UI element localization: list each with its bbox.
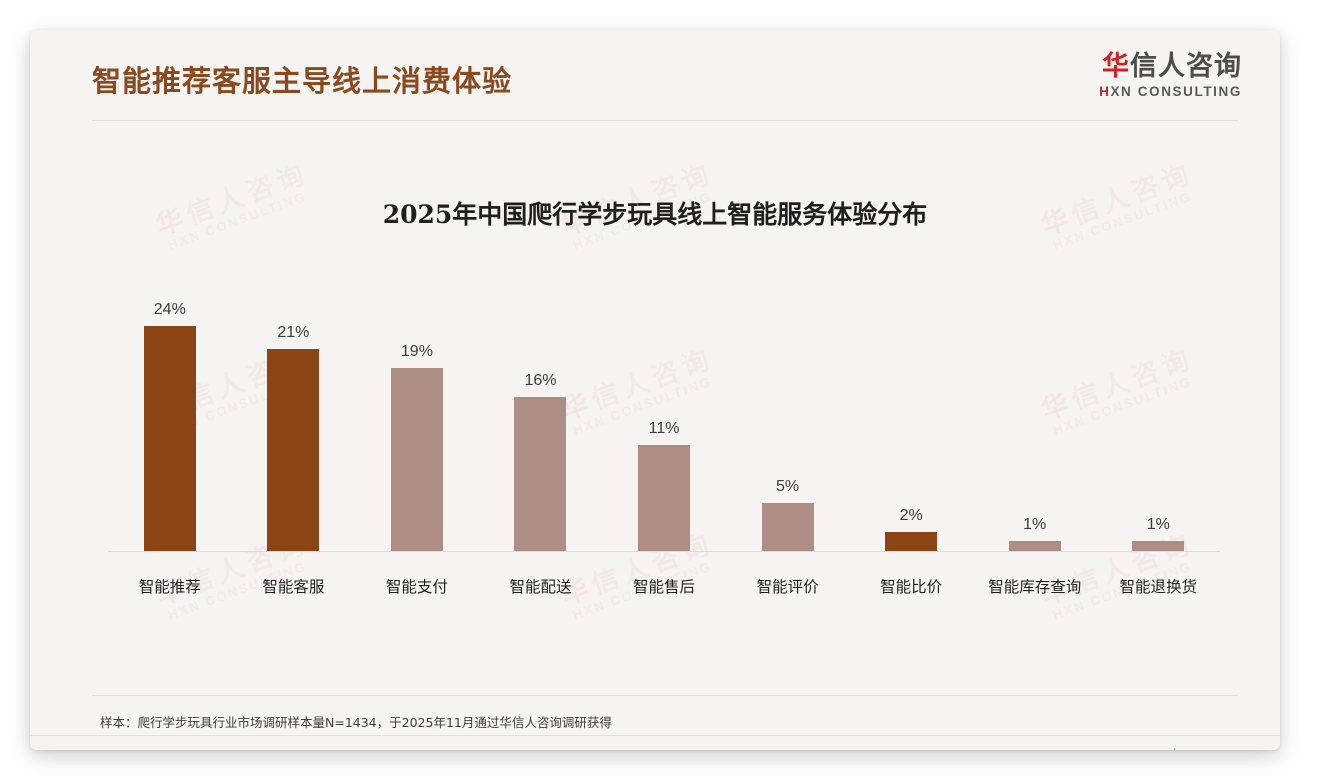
bar[interactable] <box>1009 541 1061 551</box>
bar-group: 2%智能比价 <box>849 301 973 551</box>
bar[interactable] <box>762 503 814 551</box>
bar-group: 19%智能支付 <box>355 301 479 551</box>
bar-category-label: 智能库存查询 <box>988 575 1081 597</box>
bar-value-label: 16% <box>524 372 556 390</box>
bar-category-label: 智能配送 <box>509 575 571 597</box>
bar-value-label: 2% <box>900 507 923 525</box>
logo-english: HXN CONSULTING <box>1099 84 1242 99</box>
bar-series: 24%智能推荐21%智能客服19%智能支付16%智能配送11%智能售后5%智能评… <box>108 301 1220 551</box>
chart-title: 2025年中国爬行学步玩具线上智能服务体验分布 <box>30 195 1280 231</box>
bar-category-label: 智能比价 <box>880 575 942 597</box>
bar-category-label: 智能评价 <box>757 575 819 597</box>
bar-value-label: 19% <box>401 343 433 361</box>
logo-chinese: 华信人咨询 <box>1099 52 1242 82</box>
bar[interactable] <box>638 445 690 551</box>
logo-chinese-rest: 信人咨询 <box>1130 51 1242 82</box>
logo-english-rest: XN CONSULTING <box>1110 84 1242 99</box>
bar-group: 1%智能库存查询 <box>973 301 1097 551</box>
bar-chart: 24%智能推荐21%智能客服19%智能支付16%智能配送11%智能售后5%智能评… <box>78 270 1238 630</box>
header-divider <box>92 120 1238 121</box>
bar-group: 16%智能配送 <box>479 301 603 551</box>
bar-group: 21%智能客服 <box>232 301 356 551</box>
bar-value-label: 1% <box>1023 516 1046 534</box>
sample-note: 样本：爬行学步玩具行业市场调研样本量N=1434，于2025年11月通过华信人咨… <box>100 712 612 731</box>
website-url: www.hxrcon.com <box>1144 747 1238 750</box>
bar[interactable] <box>885 532 937 551</box>
brand-logo: 华信人咨询 HXN CONSULTING <box>1099 52 1242 99</box>
logo-chinese-red: 华 <box>1102 51 1130 82</box>
bar-group: 11%智能售后 <box>602 301 726 551</box>
bar[interactable] <box>144 326 196 551</box>
logo-english-red: H <box>1099 84 1110 99</box>
bar-category-label: 智能退换货 <box>1120 575 1198 597</box>
bar-group: 5%智能评价 <box>726 301 850 551</box>
bar[interactable] <box>1132 541 1184 551</box>
bar-value-label: 11% <box>649 420 680 438</box>
slide-header: 智能推荐客服主导线上消费体验 华信人咨询 HXN CONSULTING <box>30 30 1280 122</box>
bar-group: 24%智能推荐 <box>108 301 232 551</box>
page-title: 智能推荐客服主导线上消费体验 <box>92 58 512 100</box>
bar-category-label: 智能支付 <box>386 575 448 597</box>
bar-value-label: 24% <box>154 301 186 319</box>
chart-baseline <box>108 551 1220 552</box>
bar-category-label: 智能售后 <box>633 575 695 597</box>
footer-divider <box>30 735 1280 736</box>
bar-category-label: 智能客服 <box>262 575 324 597</box>
bar-value-label: 21% <box>277 324 309 342</box>
slide-card: 华信人咨询HXN CONSULTING华信人咨询HXN CONSULTING华信… <box>30 30 1280 750</box>
bar-category-label: 智能推荐 <box>139 575 201 597</box>
copyright-text: ©2026.1 HXR华信人咨询 <box>100 747 249 750</box>
bar-value-label: 1% <box>1147 516 1170 534</box>
bar-group: 1%智能退换货 <box>1097 301 1221 551</box>
bar[interactable] <box>514 397 566 551</box>
note-divider <box>92 695 1238 696</box>
bar-value-label: 5% <box>776 478 799 496</box>
bar[interactable] <box>391 368 443 551</box>
bar[interactable] <box>267 349 319 551</box>
